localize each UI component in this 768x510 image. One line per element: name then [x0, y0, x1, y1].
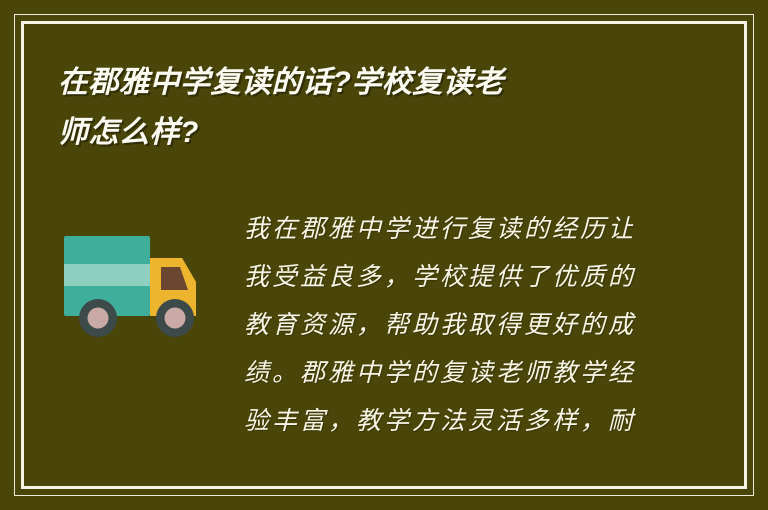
- body-line-5: 验丰富，教学方法灵活多样，耐: [244, 398, 728, 446]
- article-card: 在郡雅中学复读的话?学校复读老 师怎么样?: [0, 0, 768, 510]
- article-body: 我在郡雅中学进行复读的经历让 我受益良多，学校提供了优质的 教育资源，帮助我取得…: [244, 196, 728, 446]
- title-line-2: 师怎么样?: [58, 108, 698, 158]
- title-line-1: 在郡雅中学复读的话?学校复读老: [58, 58, 698, 108]
- body-line-4: 绩。郡雅中学的复读老师教学经: [244, 350, 728, 398]
- delivery-truck-icon: [62, 224, 222, 342]
- body-line-1: 我在郡雅中学进行复读的经历让: [244, 206, 728, 254]
- page-title: 在郡雅中学复读的话?学校复读老 师怎么样?: [58, 58, 698, 158]
- body-line-3: 教育资源，帮助我取得更好的成: [244, 302, 728, 350]
- content-area: 我在郡雅中学进行复读的经历让 我受益良多，学校提供了优质的 教育资源，帮助我取得…: [40, 196, 728, 480]
- body-line-2: 我受益良多，学校提供了优质的: [244, 254, 728, 302]
